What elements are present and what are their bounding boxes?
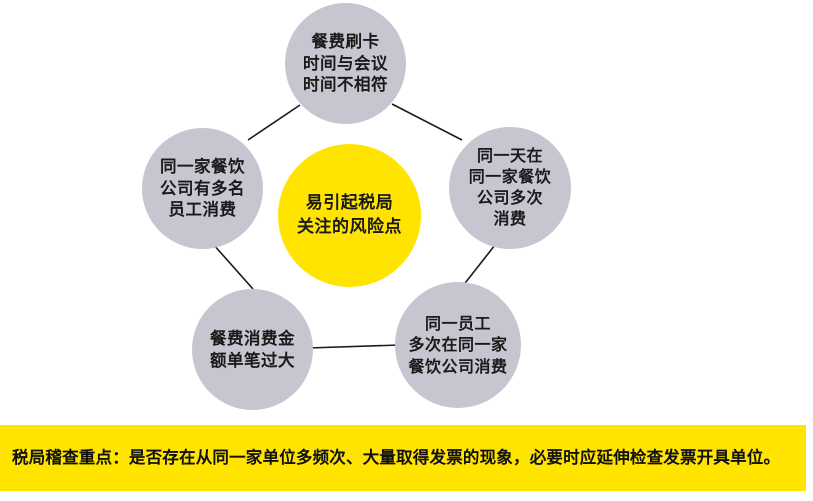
risk-node-same-employee-repeat[interactable]: 同一员工 多次在同一家 餐饮公司消费	[395, 282, 521, 408]
diagram-canvas: 餐费刷卡 时间与会议 时间不相符 同一家餐饮 公司有多名 员工消费 同一天在 同…	[0, 0, 813, 501]
risk-node-label: 餐费刷卡 时间与会议 时间不相符	[303, 31, 388, 97]
risk-node-label: 同一天在 同一家餐饮 公司多次 消费	[469, 146, 552, 229]
risk-node-card-swipe-time[interactable]: 餐费刷卡 时间与会议 时间不相符	[285, 3, 406, 124]
diagram-center-hub[interactable]: 易引起税局 关注的风险点	[278, 144, 421, 287]
diagram-center-label: 易引起税局 关注的风险点	[297, 192, 402, 240]
risk-cycle-diagram: 餐费刷卡 时间与会议 时间不相符 同一家餐饮 公司有多名 员工消费 同一天在 同…	[0, 0, 813, 425]
connector-right-bottomright	[462, 245, 495, 287]
risk-node-large-single-amount[interactable]: 餐费消费金 额单笔过大	[192, 289, 313, 410]
connector-left-bottomleft	[213, 244, 253, 289]
risk-node-label: 同一员工 多次在同一家 餐饮公司消费	[408, 313, 507, 377]
risk-node-label: 餐费消费金 额单笔过大	[210, 328, 295, 372]
risk-node-multiple-employees[interactable]: 同一家餐饮 公司有多名 员工消费	[142, 128, 263, 249]
connector-top-left	[248, 105, 300, 140]
tax-audit-focus-banner: 税局稽查重点：是否存在从同一家单位多频次、大量取得发票的现象，必要时应延伸检查发…	[0, 425, 806, 491]
connector-top-right	[392, 104, 462, 140]
risk-node-label: 同一家餐饮 公司有多名 员工消费	[160, 156, 245, 222]
tax-audit-focus-text: 税局稽查重点：是否存在从同一家单位多频次、大量取得发票的现象，必要时应延伸检查发…	[0, 445, 788, 471]
connector-bottomleft-bottomright	[308, 345, 400, 348]
risk-node-same-day-repeat[interactable]: 同一天在 同一家餐饮 公司多次 消费	[449, 127, 571, 249]
